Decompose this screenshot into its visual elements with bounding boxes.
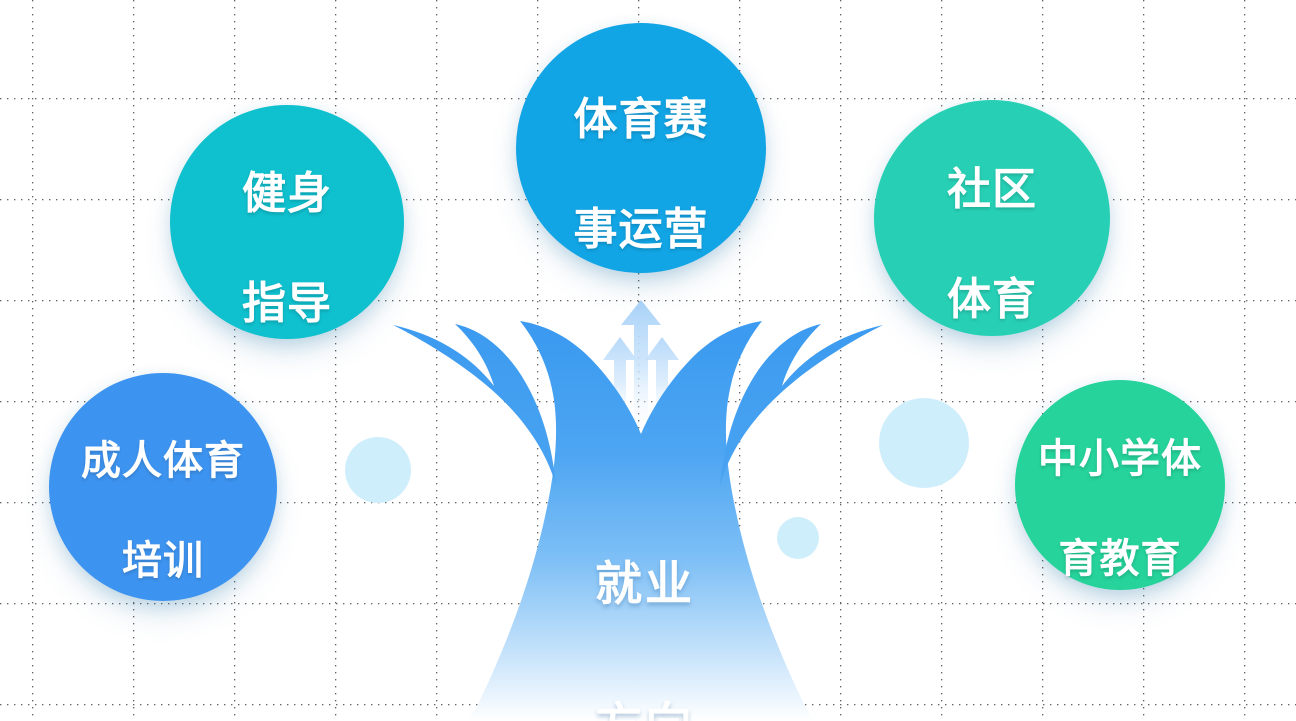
node-label-fitness-guidance: 健身 指导 [242, 113, 332, 331]
node-label-community-sports: 社区 体育 [947, 109, 1037, 327]
node-k12-sports-education[interactable]: 中小学体 育教育 [1015, 380, 1225, 590]
node-label-k12-sports-education: 中小学体 育教育 [1038, 386, 1202, 584]
node-line2: 体育 [947, 275, 1037, 324]
node-line2: 培训 [122, 539, 204, 583]
arrow-right-icon [645, 337, 679, 415]
arrow-left-icon [603, 337, 637, 415]
node-label-adult-sports-training: 成人体育 培训 [81, 388, 245, 586]
branch-left-shape [393, 324, 556, 486]
ascending-arrows-group [603, 300, 679, 420]
node-sports-event-operation[interactable]: 体育赛 事运营 [516, 23, 766, 273]
node-line1: 健身 [242, 169, 332, 218]
node-label-sports-event-operation: 体育赛 事运营 [574, 39, 709, 257]
center-label-line2: 方向 [520, 690, 770, 721]
node-line1: 体育赛 [574, 95, 709, 144]
arrow-center-icon [621, 300, 661, 420]
node-line1: 中小学体 [1038, 437, 1202, 481]
node-line2: 事运营 [574, 205, 709, 254]
decorative-circle-3 [777, 517, 819, 559]
node-adult-sports-training[interactable]: 成人体育 培训 [49, 373, 277, 601]
node-community-sports[interactable]: 社区 体育 [874, 100, 1110, 336]
node-line2: 育教育 [1059, 537, 1182, 581]
node-line2: 指导 [242, 279, 332, 328]
decorative-circle-2 [879, 398, 969, 488]
node-fitness-guidance[interactable]: 健身 指导 [170, 105, 404, 339]
center-label-line1: 就业 [520, 549, 770, 620]
node-line1: 成人体育 [81, 439, 245, 483]
center-label: 就业 方向 [520, 478, 770, 721]
node-line1: 社区 [947, 165, 1037, 214]
branch-right-shape [720, 324, 883, 486]
infographic-canvas: 就业 方向 健身 指导 体育赛 事运营 社区 体育 成人体育 培训 中小学体 育… [0, 0, 1296, 721]
decorative-circle-1 [345, 437, 411, 503]
